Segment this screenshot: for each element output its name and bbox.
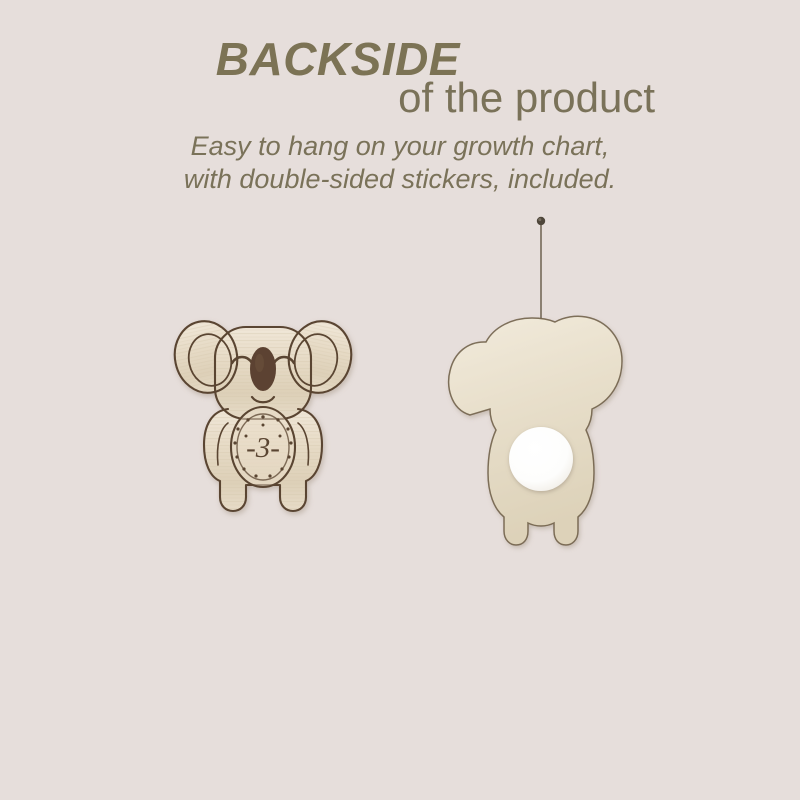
koala-front-body-group: -3-	[168, 315, 358, 511]
double-sided-sticker	[509, 427, 573, 491]
page-subtitle: of the product	[0, 76, 655, 120]
product-image-canvas: BACKSIDE of the product Easy to hang on …	[0, 0, 800, 800]
belly-medallion: -3-	[231, 407, 295, 487]
koala-front-figure: -3-	[168, 305, 358, 520]
nose-icon	[250, 347, 276, 391]
tagline-line-1: Easy to hang on your growth chart,	[0, 130, 800, 163]
page-title: BACKSIDE	[0, 36, 460, 82]
pin-head-icon	[537, 217, 545, 225]
age-number: -3-	[246, 432, 280, 464]
tagline-line-2: with double-sided stickers, included.	[0, 163, 800, 196]
koala-back-figure	[440, 205, 650, 555]
heading-block: BACKSIDE of the product Easy to hang on …	[0, 0, 800, 210]
tagline: Easy to hang on your growth chart, with …	[0, 130, 800, 196]
